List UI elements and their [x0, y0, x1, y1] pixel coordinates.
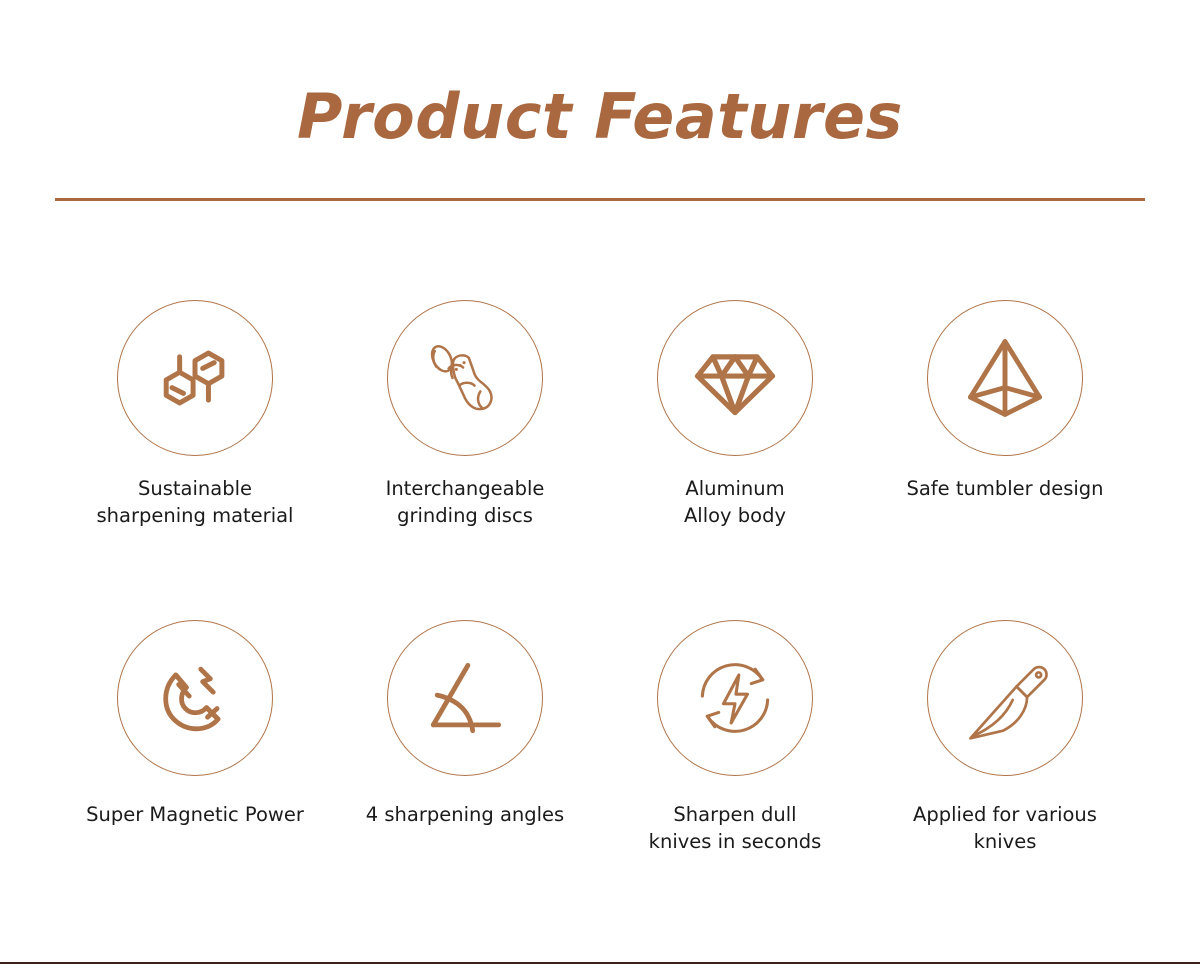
title-divider [55, 198, 1145, 201]
hexagon-molecule-icon [117, 300, 273, 456]
feature-grid: Sustainable sharpening material [60, 300, 1140, 940]
feature-item-various-knives: Applied for various knives [870, 620, 1140, 940]
feature-label: Applied for various knives [880, 802, 1130, 855]
bottom-rule [0, 962, 1200, 964]
magnet-bolt-icon [117, 620, 273, 776]
feature-label: Safe tumbler design [906, 476, 1103, 503]
feature-label: 4 sharpening angles [366, 802, 564, 829]
feature-item-sharpening-angles: 4 sharpening angles [330, 620, 600, 940]
refresh-bolt-icon [657, 620, 813, 776]
feature-label: Super Magnetic Power [86, 802, 304, 829]
feature-label: Sharpen dull knives in seconds [649, 802, 822, 855]
feature-item-grinding-discs: Interchangeable grinding discs [330, 300, 600, 620]
product-features-page: Product Features Sustainable sharpening … [0, 0, 1200, 968]
diamond-icon [657, 300, 813, 456]
feature-label: Interchangeable grinding discs [386, 476, 545, 529]
feature-item-aluminum-alloy: Aluminum Alloy body [600, 300, 870, 620]
feature-label: Sustainable sharpening material [97, 476, 294, 529]
chef-knife-icon [927, 620, 1083, 776]
feature-label: Aluminum Alloy body [684, 476, 786, 529]
feature-item-sustainable-material: Sustainable sharpening material [60, 300, 330, 620]
pyramid-icon [927, 300, 1083, 456]
feature-item-magnetic-power: Super Magnetic Power [60, 620, 330, 940]
angle-degree-icon [387, 620, 543, 776]
page-title: Product Features [0, 84, 1200, 149]
feature-item-safe-tumbler: Safe tumbler design [870, 300, 1140, 620]
feature-item-sharpen-seconds: Sharpen dull knives in seconds [600, 620, 870, 940]
grinder-shaker-icon [387, 300, 543, 456]
